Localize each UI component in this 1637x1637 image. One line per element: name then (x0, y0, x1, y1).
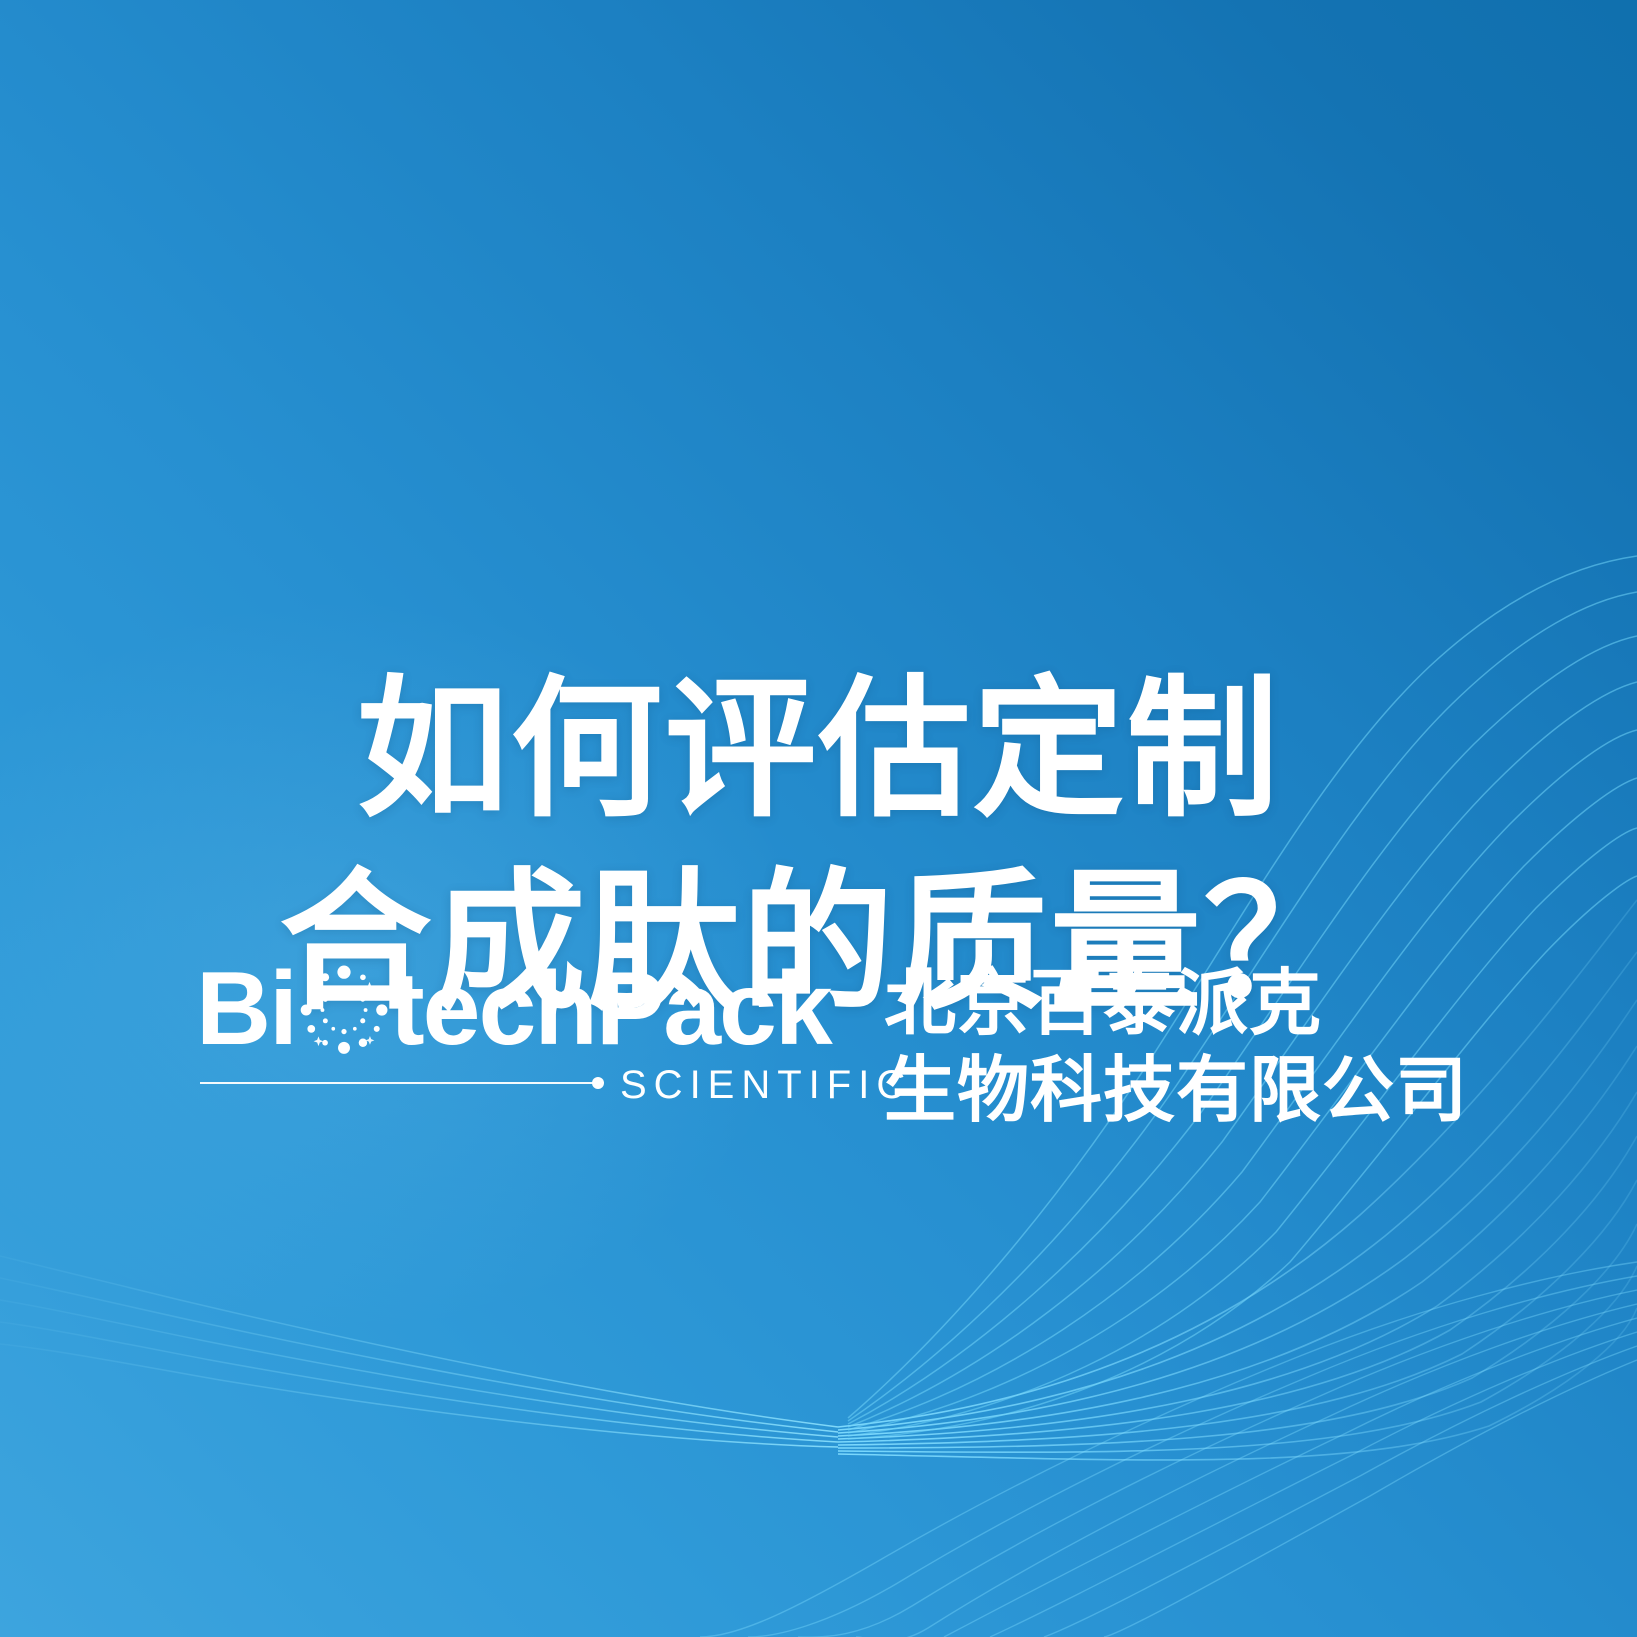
wordmark-part-techpack: techPack (390, 960, 831, 1060)
company-name-cn-line-1: 北京百泰派克 (884, 961, 1468, 1048)
poster-canvas: 如何评估定制 合成肽的质量？ Bi (0, 0, 1637, 1637)
headline-line-1: 如何评估定制 (0, 654, 1637, 847)
logo-rule (200, 1082, 598, 1084)
company-name-cn: 北京百泰派克 生物科技有限公司 (884, 955, 1468, 1135)
logo-tagline: SCIENTIFIC (620, 1065, 912, 1105)
wordmark-part-bi: Bi (196, 960, 296, 1060)
brand-logo-lockup: Bi (196, 955, 1468, 1135)
logo-mark: Bi (196, 955, 856, 1093)
dotted-ring-o-icon (300, 966, 388, 1054)
company-name-cn-line-2: 生物科技有限公司 (884, 1048, 1468, 1135)
logo-underline: SCIENTIFIC (196, 1071, 856, 1093)
wordmark: Bi (196, 955, 856, 1065)
logo-rule-dot-icon (592, 1077, 604, 1089)
